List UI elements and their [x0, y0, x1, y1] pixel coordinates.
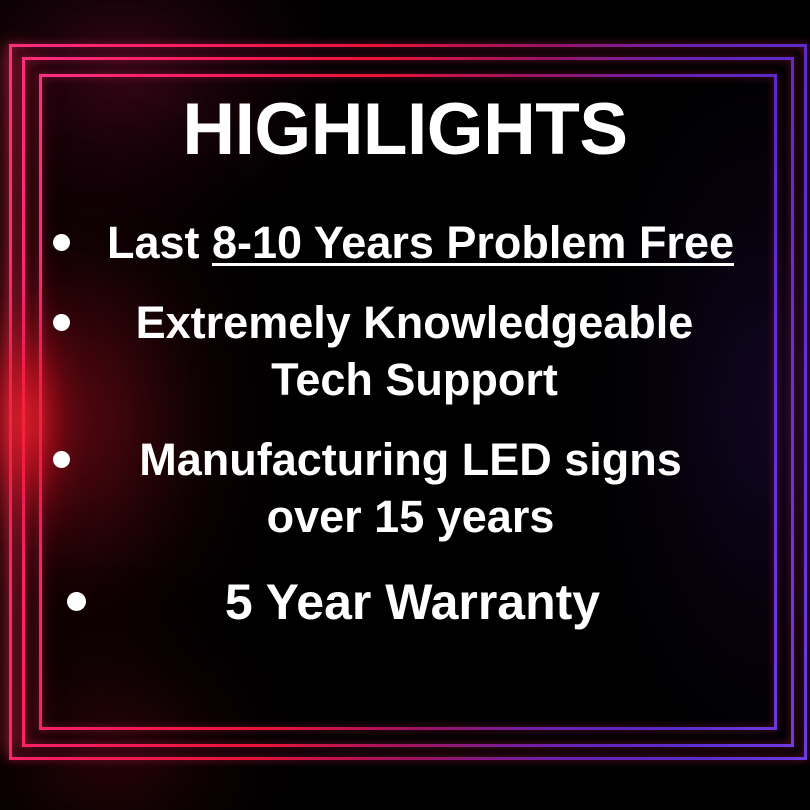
- list-item-line-2: over 15 years: [74, 488, 747, 546]
- list-item-lifespan: Last 8-10 Years Problem Free: [53, 214, 771, 272]
- list-item-experience: Manufacturing LED signsover 15 years: [53, 431, 771, 546]
- bullet-dot-icon: [67, 592, 86, 611]
- list-item-underlined: 8-10 Years Problem Free: [212, 217, 734, 268]
- list-item-prefix: Last: [107, 217, 212, 268]
- bullet-dot-icon: [53, 234, 70, 251]
- page-title: HIGHLIGHTS: [39, 92, 771, 169]
- list-item-text: 5 Year Warranty: [86, 570, 771, 634]
- list-item-prefix: Extremely Knowledgeable: [136, 297, 694, 348]
- bullet-dot-icon: [53, 451, 70, 468]
- card-content: HIGHLIGHTS Last 8-10 Years Problem Free …: [39, 74, 771, 724]
- promo-card-canvas: HIGHLIGHTS Last 8-10 Years Problem Free …: [0, 0, 810, 810]
- list-item-tech-support: Extremely KnowledgeableTech Support: [53, 294, 771, 409]
- list-item-warranty: 5 Year Warranty: [67, 570, 771, 634]
- list-item-text: Last 8-10 Years Problem Free: [70, 214, 771, 272]
- list-item-text: Extremely KnowledgeableTech Support: [70, 294, 771, 409]
- list-item-text: Manufacturing LED signsover 15 years: [70, 431, 771, 546]
- list-item-prefix: Manufacturing LED signs: [139, 434, 682, 485]
- highlights-list: Last 8-10 Years Problem Free Extremely K…: [39, 214, 771, 634]
- list-item-prefix: 5 Year Warranty: [225, 574, 600, 630]
- bullet-dot-icon: [53, 314, 70, 331]
- list-item-line-2: Tech Support: [74, 351, 755, 409]
